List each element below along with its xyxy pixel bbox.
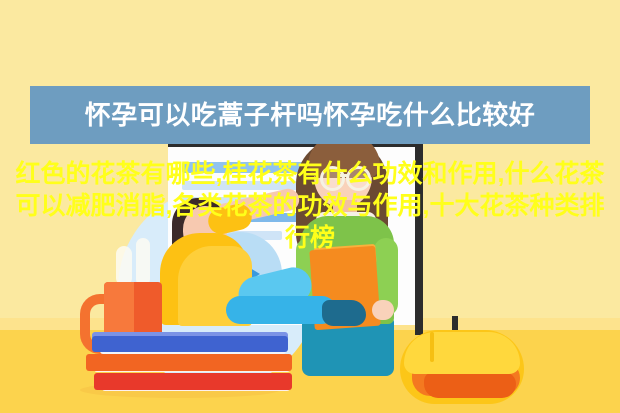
title-banner: 怀孕可以吃蒿子杆吗怀孕吃什么比较好	[30, 86, 590, 144]
book-spine	[86, 354, 292, 371]
woman-hand-right	[372, 300, 394, 320]
book-spine	[92, 336, 288, 352]
mouse-button-divider	[430, 332, 434, 362]
seated-person-leg	[226, 296, 336, 324]
page-title: 怀孕可以吃蒿子杆吗怀孕吃什么比较好	[85, 101, 536, 130]
mouse-top-shell	[404, 332, 520, 374]
thumbnail-canvas: 怀孕可以吃蒿子杆吗怀孕吃什么比较好 红色的花茶有哪些,桂花茶有什么功效和作用,什…	[0, 0, 620, 413]
book-spine	[94, 373, 292, 390]
overlay-keyword-text: 红色的花茶有哪些,桂花茶有什么功效和作用,什么花茶可以减肥消脂,各类花茶的功效与…	[8, 158, 612, 254]
mouse-accent-inner	[424, 372, 516, 398]
seated-person-shoe	[322, 300, 366, 326]
